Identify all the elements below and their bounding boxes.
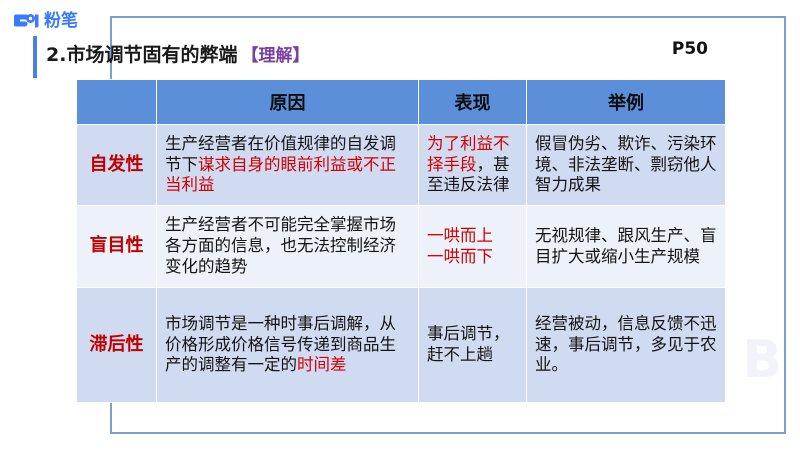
drawbacks-table: 原因 表现 举例 自发性生产经营者在价值规律的自发调节下谋求自身的眼前利益或不正… [76, 79, 726, 403]
row-label: 盲目性 [77, 206, 157, 288]
text-run: 事后调节，赶不上趟 [427, 324, 510, 364]
text-run: 一哄而下 [427, 247, 493, 266]
row-label: 自发性 [77, 125, 157, 206]
table-body: 自发性生产经营者在价值规律的自发调节下谋求自身的眼前利益或不正当利益为了利益不择… [77, 125, 726, 403]
text-run: 经营被动，信息反馈不迅速，事后调节，多见于农业。 [535, 314, 717, 375]
table-row: 滞后性市场调节是一种时事后调解，从价格形成价格信号传递到商品生产的调整有一定的时… [77, 288, 726, 403]
table-header-row: 原因 表现 举例 [77, 80, 726, 125]
page-title-tag: 【理解】 [241, 41, 309, 66]
cell-manifestation: 事后调节，赶不上趟 [419, 288, 527, 403]
text-run: 假冒伪劣、欺诈、污染环境、非法垄断、剽窃他人智力成果 [535, 134, 717, 195]
cell-cause: 生产经营者在价值规律的自发调节下谋求自身的眼前利益或不正当利益 [157, 125, 419, 206]
text-run: 市场调节是一种时事后调解，从价格形成价格信号传递到商品生产的调整有一定的 [165, 314, 396, 375]
brand-logo: 粉笔 [14, 8, 78, 34]
cell-cause: 市场调节是一种时事后调解，从价格形成价格信号传递到商品生产的调整有一定的时间差 [157, 288, 419, 403]
text-run: 一哄而上 [427, 226, 493, 245]
cell-manifestation: 一哄而上一哄而下 [419, 206, 527, 288]
page-number: P50 [672, 39, 708, 59]
column-header-blank [77, 80, 157, 125]
cell-example: 假冒伪劣、欺诈、污染环境、非法垄断、剽窃他人智力成果 [527, 125, 726, 206]
brand-logo-text: 粉笔 [44, 11, 78, 31]
text-run: 时间差 [297, 355, 347, 374]
column-header-example: 举例 [527, 80, 726, 125]
table-row: 自发性生产经营者在价值规律的自发调节下谋求自身的眼前利益或不正当利益为了利益不择… [77, 125, 726, 206]
table-row: 盲目性生产经营者不可能完全掌握市场各方面的信息，也无法控制经济变化的趋势一哄而上… [77, 206, 726, 288]
row-label: 滞后性 [77, 288, 157, 403]
page-title: 2.市场调节固有的弊端 【理解】 [46, 40, 309, 67]
page-title-text: 2.市场调节固有的弊端 [46, 40, 237, 67]
fb-logo-icon [14, 11, 40, 31]
column-header-cause: 原因 [157, 80, 419, 125]
column-header-manifestation: 表现 [419, 80, 527, 125]
text-run: 生产经营者不可能完全掌握市场各方面的信息，也无法控制经济变化的趋势 [165, 215, 396, 276]
text-run: 谋求自身的眼前利益或不正当利益 [165, 155, 396, 195]
cell-manifestation: 为了利益不择手段，甚至违反法律 [419, 125, 527, 206]
title-accent-bar [33, 36, 37, 78]
cell-example: 经营被动，信息反馈不迅速，事后调节，多见于农业。 [527, 288, 726, 403]
text-run: 无视规律、跟风生产、盲目扩大或缩小生产规模 [535, 226, 717, 266]
slide-canvas: 粉笔 2.市场调节固有的弊端 【理解】 P50 原因 表现 举例 自发性生产经营… [0, 0, 800, 450]
cell-example: 无视规律、跟风生产、盲目扩大或缩小生产规模 [527, 206, 726, 288]
cell-cause: 生产经营者不可能完全掌握市场各方面的信息，也无法控制经济变化的趋势 [157, 206, 419, 288]
